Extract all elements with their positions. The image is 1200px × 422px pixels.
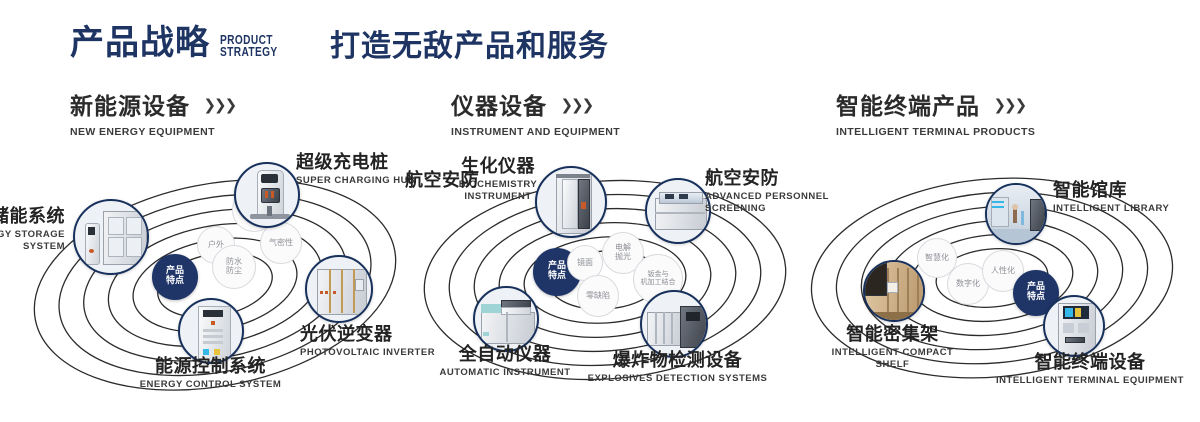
charging-pile-icon [236, 164, 298, 226]
node-explosives-detection[interactable] [640, 290, 708, 358]
label-en: AUTOMATIC INSTRUMENT [425, 367, 585, 379]
chevron-right-icon: ❯❯❯ [560, 96, 592, 114]
cluster-new-energy: 产品特点 户外 防腐 防锈 防水 防尘 气密性 储能系统 ENERGY STOR… [0, 150, 420, 410]
node-terminal-kiosk[interactable] [1043, 295, 1105, 357]
label-cn: 全自动仪器 [425, 346, 585, 365]
node-pv-inverter[interactable] [305, 255, 373, 323]
compact-shelving-icon [865, 262, 923, 320]
section-title-en: INSTRUMENT AND EQUIPMENT [451, 126, 620, 138]
node-charging-hub[interactable] [234, 162, 300, 228]
page-subtitle: 打造无敌产品和服务 [330, 32, 609, 62]
label-terminal-kiosk: 智能终端设备 INTELLIGENT TERMINAL EQUIPMENT [990, 354, 1190, 387]
label-cn: 智能终端设备 [990, 354, 1190, 373]
label-energy-control: 能源控制系统 ENERGY CONTROL SYSTEM [108, 358, 313, 391]
page-header: 产品战略 PRODUCT STRATEGY [70, 26, 294, 60]
page-title-en: PRODUCT STRATEGY [220, 34, 278, 58]
feature-bubble-4: 零缺陷 [577, 275, 619, 317]
section-header-new-energy: 新能源设备 ❯❯❯ NEW ENERGY EQUIPMENT [70, 96, 235, 138]
node-automatic-instrument[interactable] [473, 286, 539, 352]
pv-inverter-cabinet-icon [307, 257, 371, 321]
label-automatic-instrument: 全自动仪器 AUTOMATIC INSTRUMENT [425, 346, 585, 379]
node-compact-shelf[interactable] [863, 260, 925, 322]
cluster-instrument: 产品特点 镜面 电解 抛光 钣金与 机加工结合 零缺陷 生化仪器 BIOCHEM… [395, 150, 815, 410]
node-energy-control[interactable] [178, 298, 244, 364]
label-en: INTELLIGENT LIBRARY [1053, 203, 1200, 215]
explosives-detector-icon [642, 292, 706, 356]
product-strategy-infographic: 产品战略 PRODUCT STRATEGY 打造无敌产品和服务 新能源设备 ❯❯… [0, 0, 1200, 422]
chevron-right-icon: ❯❯❯ [993, 96, 1025, 114]
energy-storage-cabinet-icon [75, 201, 147, 273]
label-aviation-security-left: 航空安防 [405, 172, 479, 191]
label-smart-library: 智能馆库 INTELLIGENT LIBRARY [1053, 182, 1200, 215]
label-cn: 能源控制系统 [108, 358, 313, 377]
node-personnel-screening[interactable] [645, 178, 711, 244]
label-cn: 智能馆库 [1053, 182, 1200, 201]
label-en: ENERGY CONTROL SYSTEM [108, 379, 313, 391]
feature-bubble-3: 防水 防尘 [212, 245, 256, 289]
personnel-screening-scanner-icon [647, 180, 709, 242]
section-title-en: NEW ENERGY EQUIPMENT [70, 126, 235, 138]
label-en: INTELLIGENT TERMINAL EQUIPMENT [990, 375, 1190, 387]
feature-bubble-center: 产品特点 [152, 254, 198, 300]
label-cn: 航空安防 [405, 172, 479, 191]
label-en: EXPLOSIVES DETECTION SYSTEMS [585, 373, 770, 385]
section-title-cn: 仪器设备 [451, 96, 547, 119]
self-service-kiosk-icon [1045, 297, 1103, 355]
label-cn: 智能密集架 [805, 326, 980, 345]
label-explosives-detection: 爆炸物检测设备 EXPLOSIVES DETECTION SYSTEMS [585, 352, 770, 385]
section-title-cn: 新能源设备 [70, 96, 190, 119]
section-title-en: INTELLIGENT TERMINAL PRODUCTS [836, 126, 1035, 138]
chevron-right-icon: ❯❯❯ [203, 96, 235, 114]
label-en: ENERGY STORAGE SYSTEM [0, 229, 65, 253]
page-title-cn: 产品战略 [70, 26, 210, 60]
section-header-instrument: 仪器设备 ❯❯❯ INSTRUMENT AND EQUIPMENT [451, 96, 620, 138]
label-compact-shelf: 智能密集架 INTELLIGENT COMPACT SHELF [805, 326, 980, 371]
section-header-intelligent-terminal: 智能终端产品 ❯❯❯ INTELLIGENT TERMINAL PRODUCTS [836, 96, 1035, 138]
node-smart-library[interactable] [985, 183, 1047, 245]
control-cabinet-icon [180, 300, 242, 362]
section-title-cn: 智能终端产品 [836, 96, 980, 119]
automatic-instrument-icon [475, 288, 537, 350]
label-cn: 爆炸物检测设备 [585, 352, 770, 371]
smart-library-room-icon [987, 185, 1045, 243]
label-en: INTELLIGENT COMPACT SHELF [805, 347, 980, 371]
label-energy-storage: 储能系统 ENERGY STORAGE SYSTEM [0, 208, 65, 253]
label-cn: 储能系统 [0, 208, 65, 227]
cluster-intelligent-terminal: 智慧化 数字化 人性化 产品特点 智能馆库 INTELLIGENT LIBRAR… [785, 150, 1200, 410]
feature-bubble-4: 气密性 [260, 222, 302, 264]
node-energy-storage[interactable] [73, 199, 149, 275]
